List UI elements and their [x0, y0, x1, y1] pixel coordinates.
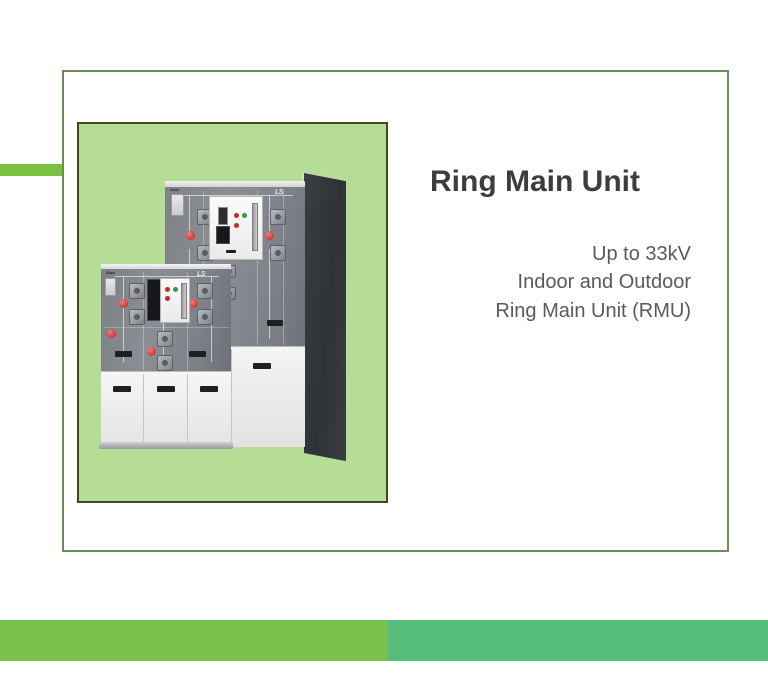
control-dial [157, 355, 173, 371]
rear-cabinet-side-panel [304, 173, 346, 461]
door-label [253, 363, 271, 369]
status-indicator [189, 299, 198, 308]
control-dial [197, 309, 213, 325]
control-dial [129, 309, 145, 325]
front-switchgear-cabinet: LS Susol [101, 264, 231, 454]
bottom-bar-left-segment [0, 620, 388, 661]
operating-handle [252, 203, 258, 251]
nameplate [171, 194, 184, 216]
left-accent-tab [0, 164, 66, 176]
ls-logo-icon: LS [275, 189, 283, 196]
status-indicator [186, 231, 195, 240]
relay-display [218, 207, 228, 225]
cabinet-label [189, 351, 206, 357]
cabinet-label [115, 351, 132, 357]
door-label [157, 386, 175, 392]
subtitle-line-2: Indoor and Outdoor [420, 268, 691, 296]
bottom-bar-right-segment [388, 620, 768, 661]
alarm-indicator [234, 223, 239, 228]
busbar-line [189, 195, 190, 231]
door-label [113, 386, 131, 392]
nameplate [105, 278, 116, 296]
status-indicator [265, 231, 274, 240]
control-dial [157, 331, 173, 347]
door-seam [231, 349, 232, 444]
front-cabinet-lower-doors [101, 371, 231, 444]
page-title: Ring Main Unit [420, 165, 695, 198]
text-block: Ring Main Unit Up to 33kV Indoor and Out… [420, 165, 695, 325]
trip-button [165, 287, 170, 292]
door-seam [187, 374, 188, 442]
product-image: LS Susol [77, 122, 388, 503]
status-indicator [147, 347, 156, 356]
door-label [200, 386, 218, 392]
alarm-indicator [165, 296, 170, 301]
close-button [173, 287, 178, 292]
status-indicator [107, 329, 116, 338]
brand-text-small: Susol [106, 271, 114, 275]
control-dial [129, 283, 145, 299]
subtitle-line-3: Ring Main Unit (RMU) [420, 297, 691, 325]
busbar-line [123, 276, 124, 362]
front-cabinet-plinth [99, 442, 233, 449]
status-indicator [119, 299, 128, 308]
door-seam [143, 374, 144, 442]
front-cabinet-upper-panel: LS Susol [101, 269, 231, 371]
brand-text-small: Susol [170, 188, 178, 192]
cabinet-label [267, 320, 283, 326]
close-button [242, 213, 247, 218]
trip-button [234, 213, 239, 218]
ls-logo-icon: LS [197, 271, 205, 278]
relay-protection-panel [209, 196, 263, 260]
bottom-bar [0, 620, 768, 661]
relay-protection-panel [160, 278, 190, 323]
control-dial [270, 245, 286, 261]
panel-label [226, 250, 236, 253]
subtitle-line-1: Up to 33kV [420, 240, 691, 268]
operating-handle [181, 283, 187, 319]
subtitle-list: Up to 33kV Indoor and Outdoor Ring Main … [420, 240, 695, 325]
product-illustration: LS Susol [79, 124, 386, 501]
control-dial [197, 283, 213, 299]
control-dial [270, 209, 286, 225]
relay-keypad [216, 226, 230, 244]
